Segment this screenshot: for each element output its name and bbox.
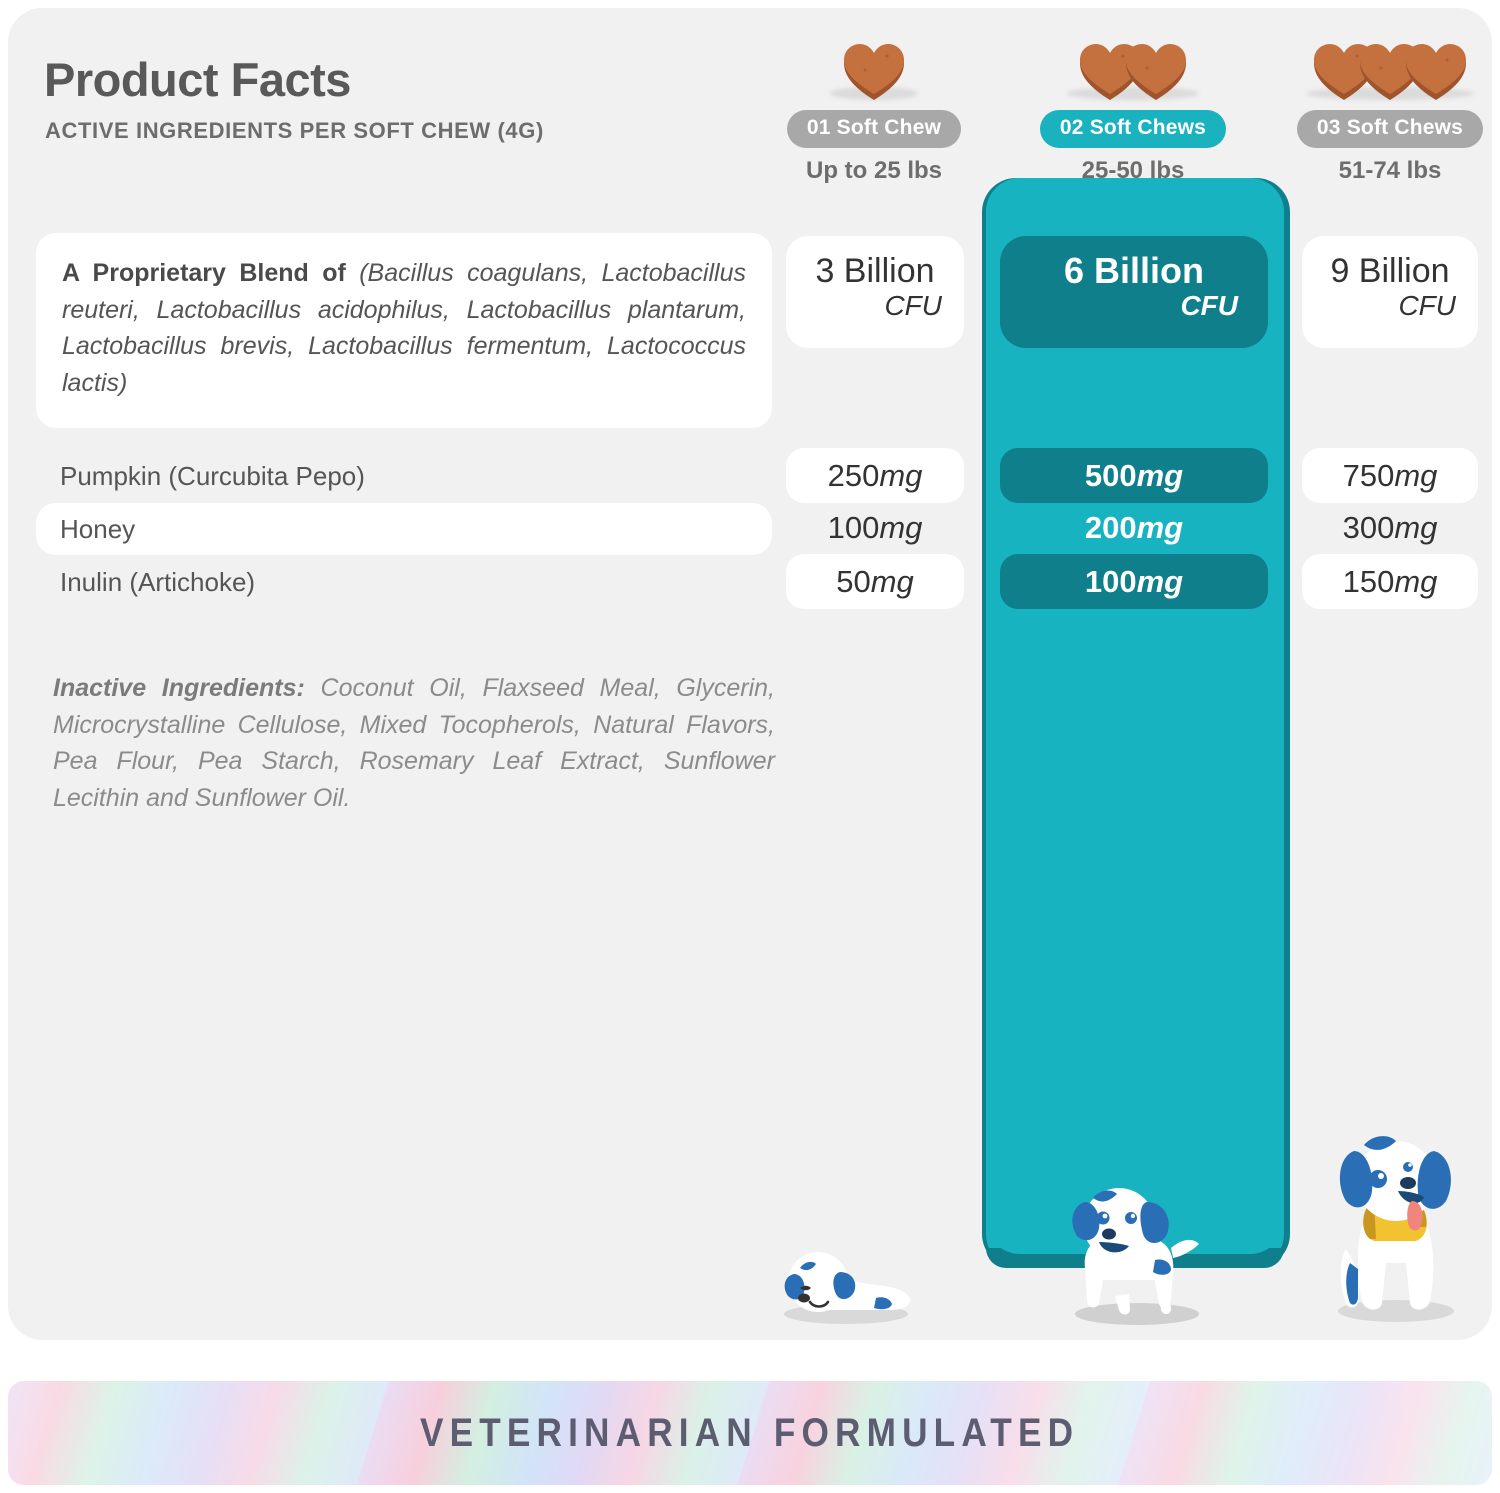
heart-chew-icon bbox=[841, 40, 907, 102]
weight-range-1: Up to 25 lbs bbox=[744, 157, 1004, 185]
ingredient-value-1-col3: 750mg bbox=[1302, 448, 1478, 503]
heart-chew-icon bbox=[1123, 40, 1189, 102]
cfu-value-col2: 6 Billion CFU bbox=[1000, 236, 1268, 348]
cfu-value-col3: 9 Billion CFU bbox=[1302, 236, 1478, 348]
cfu-value-col1: 3 Billion CFU bbox=[786, 236, 964, 348]
cfu-amount-col1: 3 Billion bbox=[786, 254, 964, 290]
value-text: 200mg bbox=[1085, 510, 1183, 546]
chew-group-1 bbox=[744, 30, 1004, 102]
dog-standing-icon bbox=[1055, 1176, 1215, 1326]
ingredient-value-1-col2: 500mg bbox=[1000, 448, 1268, 503]
ingredient-value-3-col3: 150mg bbox=[1302, 554, 1478, 609]
value-text: 300mg bbox=[1343, 510, 1438, 546]
value-text: 500mg bbox=[1085, 458, 1183, 494]
veterinarian-formulated-banner: VETERINARIAN FORMULATED bbox=[8, 1381, 1492, 1485]
ingredient-label-row-1: Pumpkin (Curcubita Pepo) bbox=[36, 450, 772, 502]
cfu-unit-col3: CFU bbox=[1302, 290, 1478, 322]
blend-lead: A Proprietary Blend of bbox=[62, 259, 346, 287]
chew-group-3 bbox=[1260, 30, 1492, 102]
page-subtitle: ACTIVE INGREDIENTS PER SOFT CHEW (4G) bbox=[45, 118, 544, 144]
banner-text: VETERINARIAN FORMULATED bbox=[420, 1411, 1079, 1456]
ingredient-name-2: Honey bbox=[60, 514, 135, 545]
chew-group-2 bbox=[1003, 30, 1263, 102]
product-facts-page: Product Facts ACTIVE INGREDIENTS PER SOF… bbox=[0, 0, 1500, 1493]
ingredient-value-2-col2: 200mg bbox=[1000, 502, 1268, 554]
chew-count-pill-3: 03 Soft Chews bbox=[1297, 110, 1483, 148]
value-text: 100mg bbox=[828, 510, 923, 546]
page-title: Product Facts bbox=[44, 52, 351, 107]
cfu-unit-col2: CFU bbox=[1000, 290, 1268, 322]
ingredient-value-2-col3: 300mg bbox=[1302, 502, 1478, 554]
ingredient-name-1: Pumpkin (Curcubita Pepo) bbox=[60, 461, 365, 492]
ingredient-label-row-2: Honey bbox=[36, 503, 772, 555]
value-text: 750mg bbox=[1343, 458, 1438, 494]
ingredient-value-1-col1: 250mg bbox=[786, 448, 964, 503]
cfu-unit-col1: CFU bbox=[786, 290, 964, 322]
blend-label-cell: A Proprietary Blend of (Bacillus coagula… bbox=[36, 233, 772, 428]
chew-count-pill-2: 02 Soft Chews bbox=[1040, 110, 1226, 148]
ingredient-value-3-col1: 50mg bbox=[786, 554, 964, 609]
value-text: 150mg bbox=[1343, 564, 1438, 600]
cfu-amount-col2: 6 Billion bbox=[1000, 252, 1268, 290]
product-facts-card: Product Facts ACTIVE INGREDIENTS PER SOF… bbox=[8, 8, 1492, 1340]
column-header-2: 02 Soft Chews 25-50 lbs bbox=[1003, 30, 1263, 185]
value-text: 250mg bbox=[828, 458, 923, 494]
value-text: 100mg bbox=[1085, 564, 1183, 600]
dog-lying-icon bbox=[778, 1230, 913, 1325]
chew-count-pill-1: 01 Soft Chew bbox=[787, 110, 961, 148]
blend-text: A Proprietary Blend of (Bacillus coagula… bbox=[62, 255, 746, 401]
column-header-3: 03 Soft Chews 51-74 lbs bbox=[1260, 30, 1492, 185]
cfu-amount-col3: 9 Billion bbox=[1302, 254, 1478, 290]
inactive-ingredients: Inactive Ingredients: Coconut Oil, Flaxs… bbox=[53, 670, 775, 816]
ingredient-value-3-col2: 100mg bbox=[1000, 554, 1268, 609]
ingredient-label-row-3: Inulin (Artichoke) bbox=[36, 556, 772, 608]
value-text: 50mg bbox=[836, 564, 914, 600]
ingredient-name-3: Inulin (Artichoke) bbox=[60, 567, 255, 598]
dog-sitting-icon bbox=[1308, 1123, 1478, 1323]
column-header-1: 01 Soft Chew Up to 25 lbs bbox=[744, 30, 1004, 185]
ingredient-value-2-col1: 100mg bbox=[786, 502, 964, 554]
inactive-heading: Inactive Ingredients: bbox=[53, 674, 305, 702]
heart-chew-icon bbox=[1403, 40, 1469, 102]
weight-range-3: 51-74 lbs bbox=[1260, 157, 1492, 185]
